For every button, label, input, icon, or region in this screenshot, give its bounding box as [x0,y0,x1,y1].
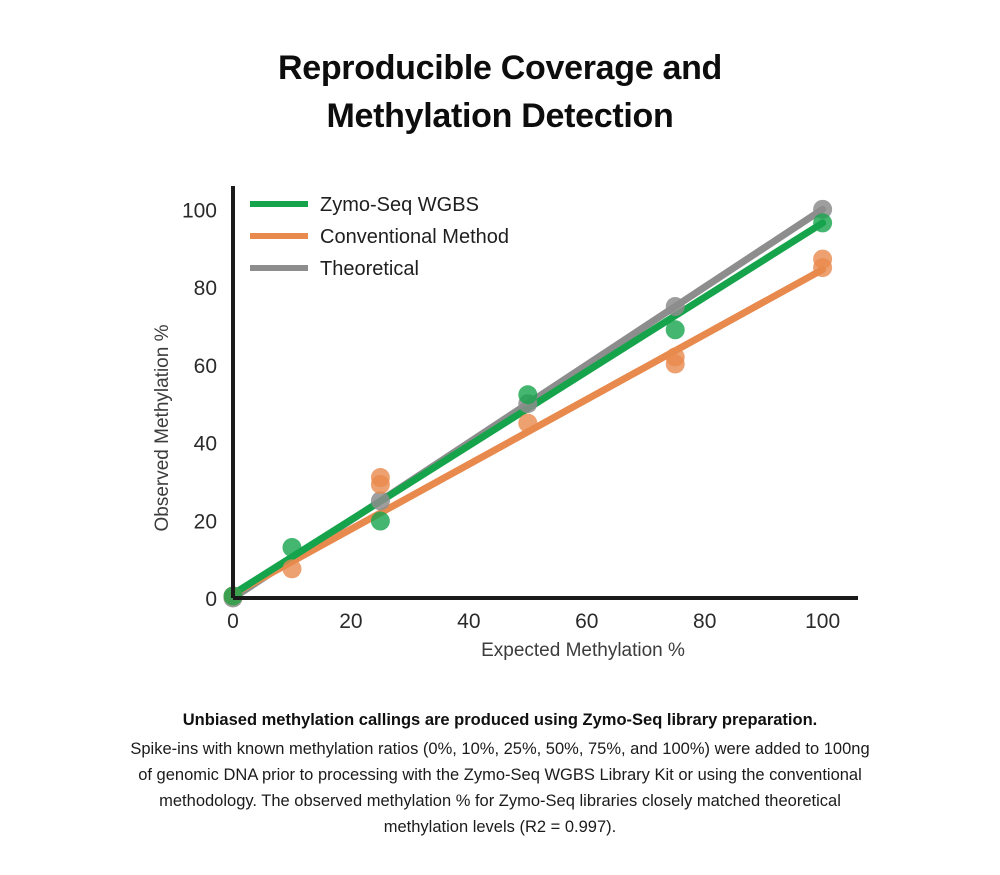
y-tick-label: 100 [182,199,217,222]
y-tick-label: 80 [194,277,217,300]
page-title-line-1: Reproducible Coverage and [190,44,810,92]
data-point-zymo-seq-wgbs [371,512,390,531]
x-tick-label: 0 [227,610,239,633]
data-point-conventional-method [371,475,390,494]
x-tick-label: 20 [339,610,362,633]
data-point-zymo-seq-wgbs [813,213,832,232]
x-tick-label: 40 [457,610,480,633]
y-tick-label: 20 [194,510,217,533]
y-tick-label: 60 [194,355,217,378]
data-point-conventional-method [813,258,832,277]
chart-legend: Zymo-Seq WGBSConventional MethodTheoreti… [250,194,509,280]
page-title-line-2: Methylation Detection [190,92,810,140]
chart-container: 020406080100020406080100 Zymo-Seq WGBSCo… [0,160,1000,690]
x-tick-label: 60 [575,610,598,633]
data-point-conventional-method [518,414,537,433]
x-tick-label: 80 [693,610,716,633]
x-tick-label: 100 [805,610,840,633]
x-axis-title: Expected Methylation % [481,640,685,661]
y-tick-label: 0 [205,588,217,611]
data-point-conventional-method [282,559,301,578]
methylation-scatter-chart: 020406080100020406080100 Zymo-Seq WGBSCo… [0,160,1000,690]
caption-headline: Unbiased methylation callings are produc… [130,708,870,733]
page-title: Reproducible Coverage and Methylation De… [190,0,810,141]
data-point-theoretical [666,297,685,316]
data-point-zymo-seq-wgbs [282,538,301,557]
caption-body: Spike-ins with known methylation ratios … [130,736,870,840]
data-point-conventional-method [666,355,685,374]
data-point-zymo-seq-wgbs [666,320,685,339]
y-axis-title: Observed Methylation % [152,324,173,531]
legend-label-2: Theoretical [320,258,419,280]
legend-label-0: Zymo-Seq WGBS [320,194,479,216]
y-tick-label: 40 [194,433,217,456]
data-point-zymo-seq-wgbs [518,385,537,404]
data-point-theoretical [371,491,390,510]
figure-caption: Unbiased methylation callings are produc… [130,708,870,840]
legend-label-1: Conventional Method [320,226,509,248]
